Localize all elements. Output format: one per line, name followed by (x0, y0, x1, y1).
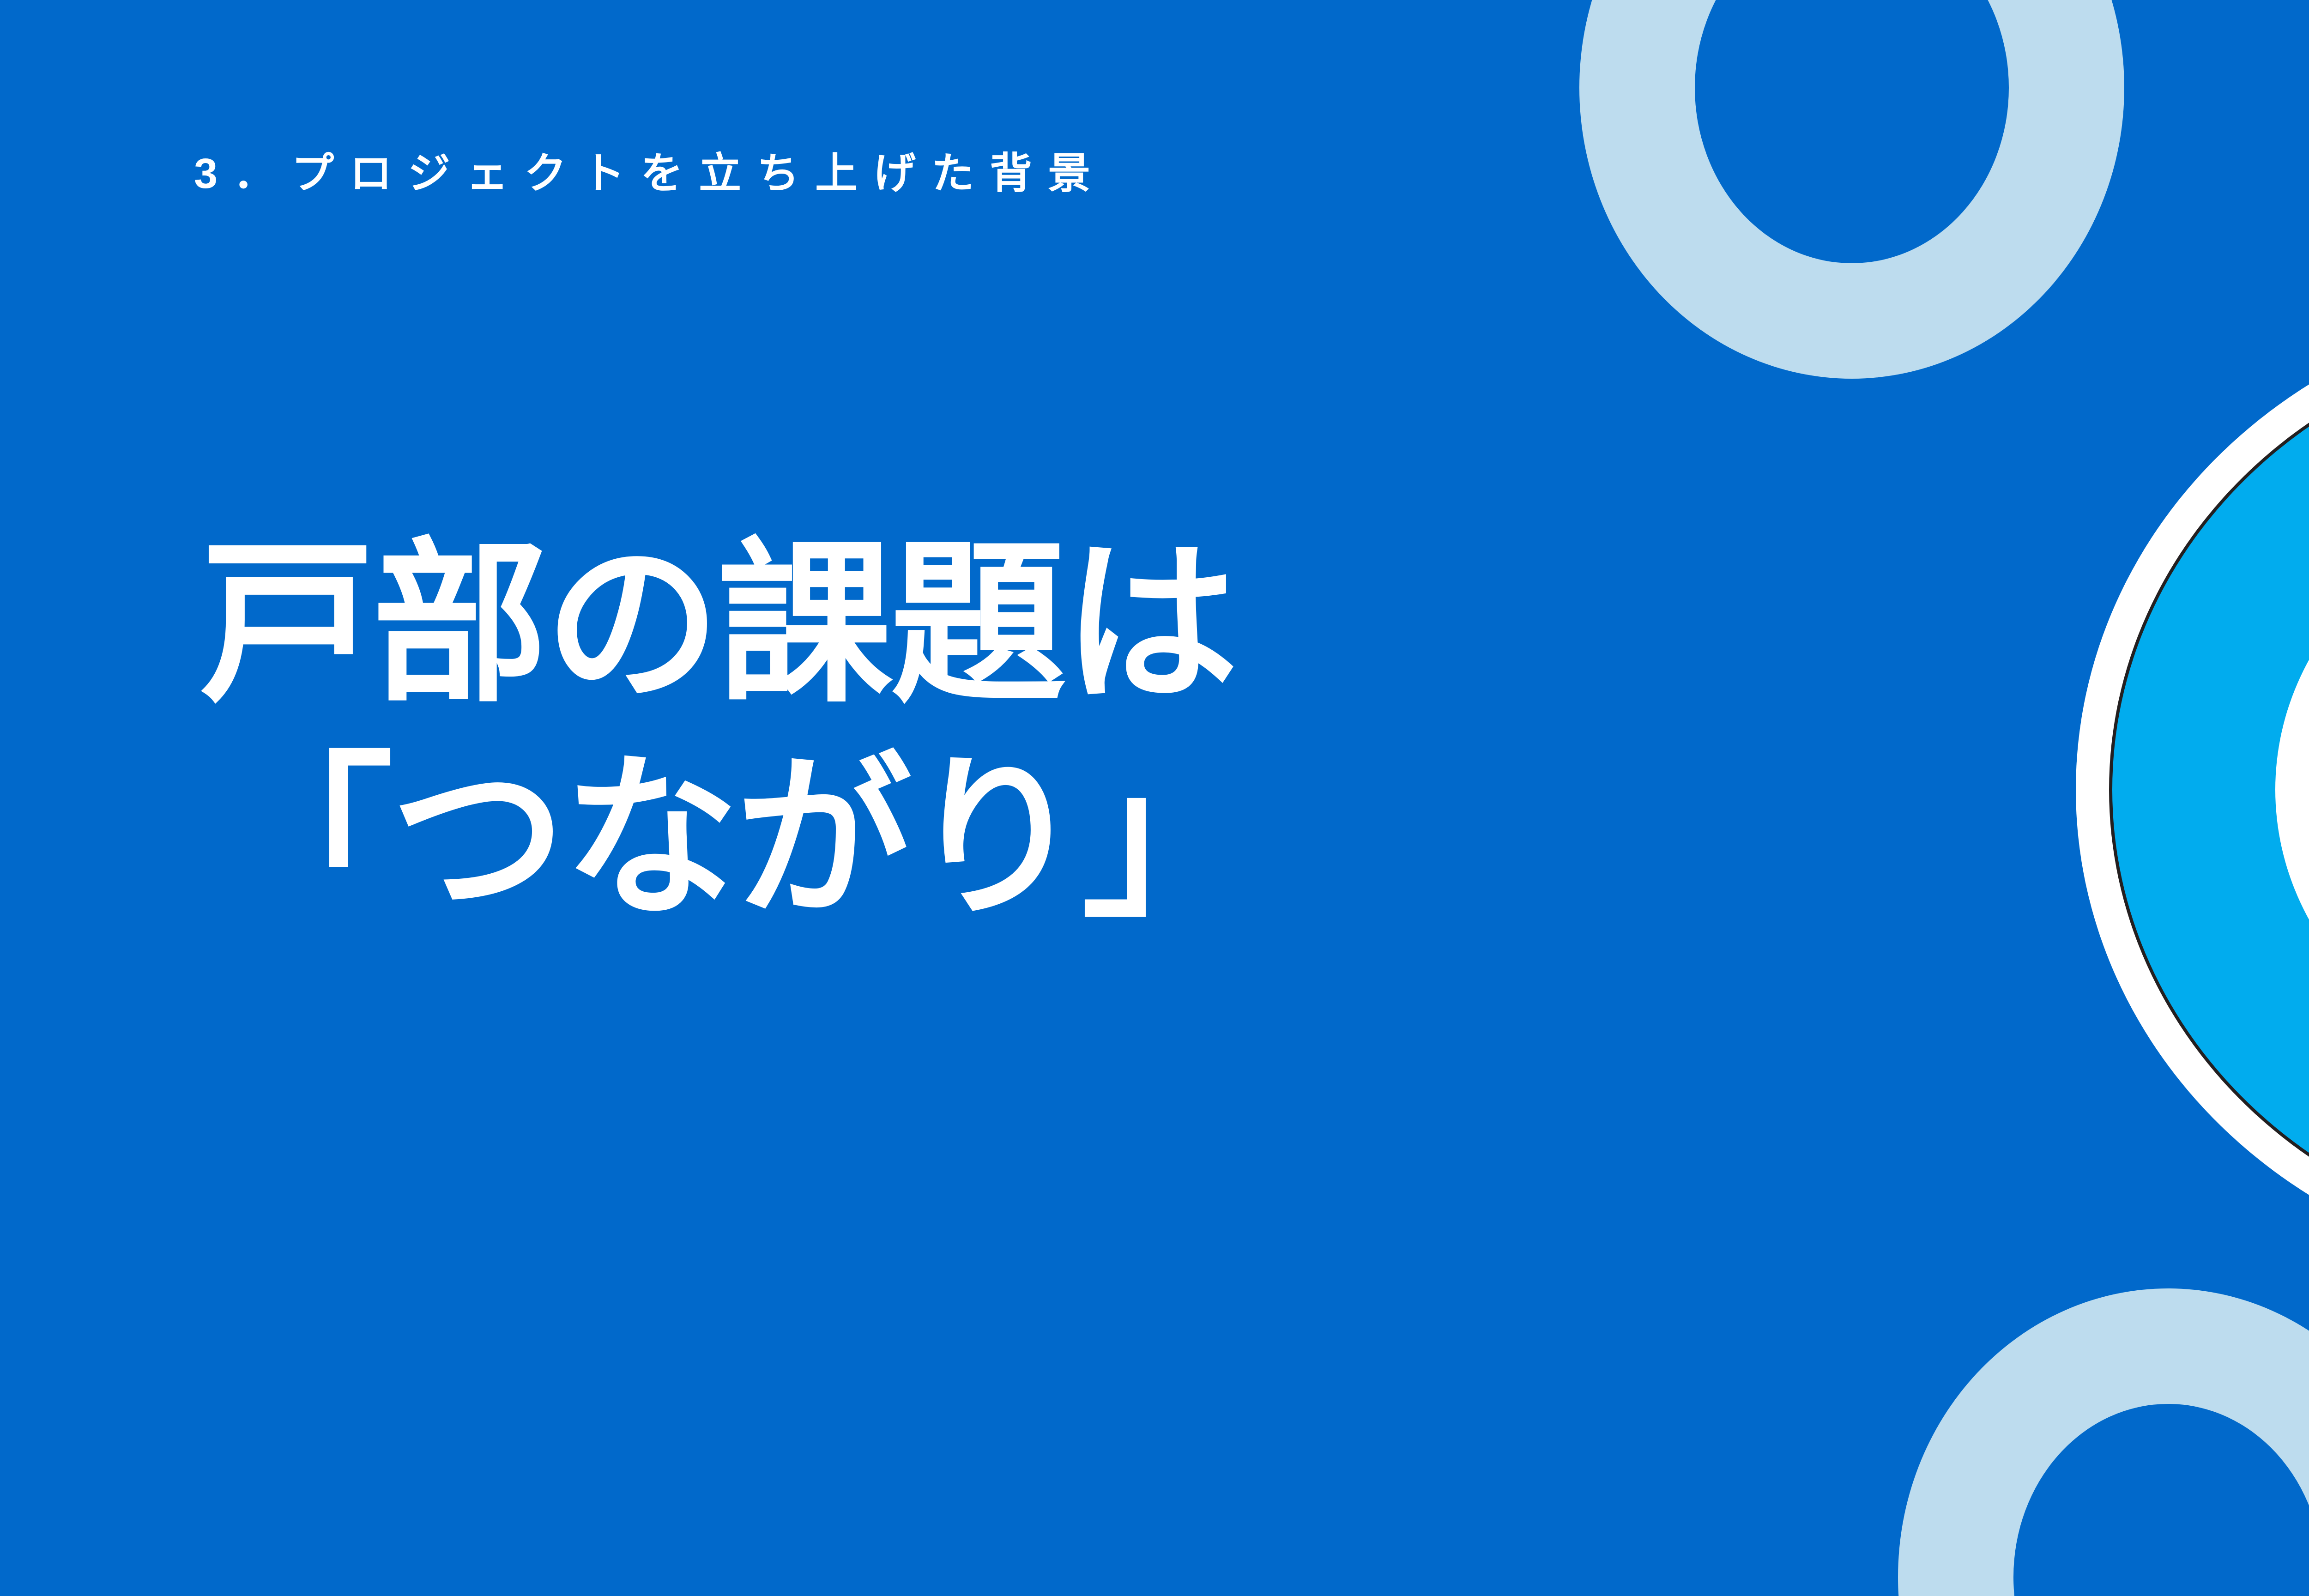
section-kicker: 3．プロジェクトを立ち上げた背景 (194, 152, 1106, 195)
slide-root: 3．プロジェクトを立ち上げた背景 戸部の課題は 「つながり」 とベピー (0, 0, 2309, 1596)
mascot-tobepii-illustration (2272, 451, 2309, 1167)
mascot-badge: とベピー (2076, 300, 2309, 1279)
page-title: 戸部の課題は 「つながり」 (199, 517, 1254, 945)
page-title-line-2: 「つながり」 (218, 731, 1254, 946)
ring-bottom-decoration (1898, 1288, 2309, 1596)
page-title-line-1: 戸部の課題は (199, 526, 1236, 722)
ring-top-decoration (1579, 0, 2124, 379)
